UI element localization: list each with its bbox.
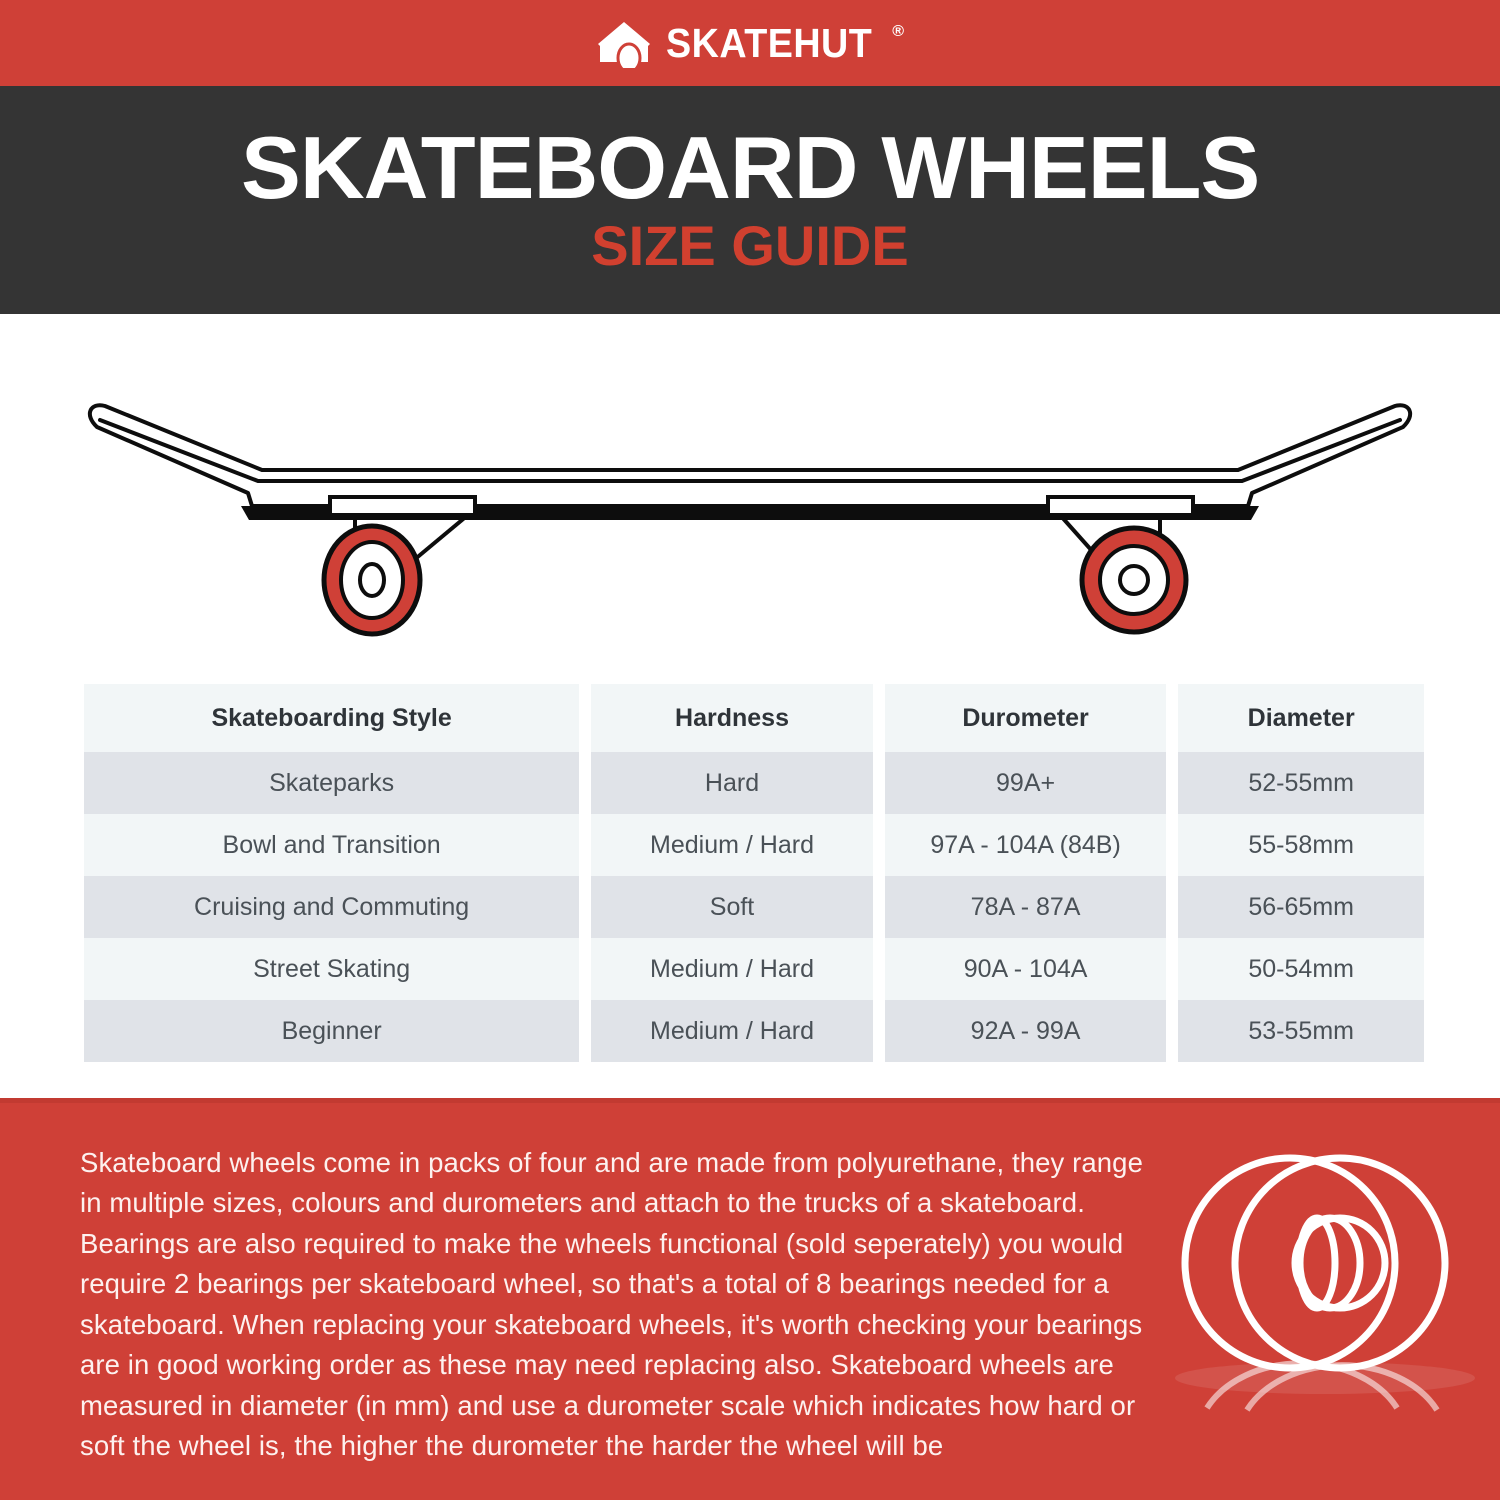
column-header-hardness: Hardness bbox=[591, 684, 873, 752]
column-header-durometer: Durometer bbox=[885, 684, 1167, 752]
table-row: Hard bbox=[591, 752, 873, 814]
skateboard-illustration bbox=[0, 330, 1500, 670]
table-row: Bowl and Transition bbox=[84, 814, 579, 876]
registered-mark: ® bbox=[892, 23, 904, 41]
infographic-page: SKATEHUT ® SKATEBOARD WHEELS SIZE GUIDE bbox=[0, 0, 1500, 1500]
table-row: 53-55mm bbox=[1178, 1000, 1424, 1062]
right-wheel bbox=[1082, 528, 1186, 632]
table-row: Medium / Hard bbox=[591, 814, 873, 876]
wheel-size-table: Skateboarding Style Skateparks Bowl and … bbox=[84, 684, 1424, 1062]
column-header-style: Skateboarding Style bbox=[84, 684, 579, 752]
table-row: Medium / Hard bbox=[591, 1000, 873, 1062]
table-row: Skateparks bbox=[84, 752, 579, 814]
page-title: SKATEBOARD WHEELS bbox=[241, 126, 1259, 210]
table-row: Soft bbox=[591, 876, 873, 938]
page-subtitle: SIZE GUIDE bbox=[591, 218, 908, 274]
left-wheel bbox=[324, 526, 420, 634]
house-icon bbox=[596, 18, 652, 68]
table-row: 90A - 104A bbox=[885, 938, 1167, 1000]
table-row: 97A - 104A (84B) bbox=[885, 814, 1167, 876]
table-row: Medium / Hard bbox=[591, 938, 873, 1000]
skatehut-logo: SKATEHUT ® bbox=[596, 18, 904, 68]
table-row: 99A+ bbox=[885, 752, 1167, 814]
brand-name: SKATEHUT bbox=[666, 23, 872, 64]
column-header-diameter: Diameter bbox=[1178, 684, 1424, 752]
skateboard-side-view-svg bbox=[0, 330, 1500, 670]
title-block: SKATEBOARD WHEELS SIZE GUIDE bbox=[0, 86, 1500, 314]
table-column-hardness: Hardness Hard Medium / Hard Soft Medium … bbox=[591, 684, 873, 1062]
table-row: 56-65mm bbox=[1178, 876, 1424, 938]
table-row: 52-55mm bbox=[1178, 752, 1424, 814]
table-row: 78A - 87A bbox=[885, 876, 1167, 938]
table-row: Cruising and Commuting bbox=[84, 876, 579, 938]
table-row: 92A - 99A bbox=[885, 1000, 1167, 1062]
wheel-icon-container bbox=[1165, 1138, 1485, 1438]
table-row: 50-54mm bbox=[1178, 938, 1424, 1000]
footer-band: Skateboard wheels come in packs of four … bbox=[0, 1098, 1500, 1500]
table-row: 55-58mm bbox=[1178, 814, 1424, 876]
table-row: Street Skating bbox=[84, 938, 579, 1000]
skateboard-wheel-icon bbox=[1165, 1138, 1485, 1438]
table-column-style: Skateboarding Style Skateparks Bowl and … bbox=[84, 684, 579, 1062]
table-row: Beginner bbox=[84, 1000, 579, 1062]
brand-bar: SKATEHUT ® bbox=[0, 0, 1500, 86]
table-column-durometer: Durometer 99A+ 97A - 104A (84B) 78A - 87… bbox=[885, 684, 1167, 1062]
footer-paragraph: Skateboard wheels come in packs of four … bbox=[80, 1143, 1170, 1466]
table-column-diameter: Diameter 52-55mm 55-58mm 56-65mm 50-54mm… bbox=[1178, 684, 1424, 1062]
